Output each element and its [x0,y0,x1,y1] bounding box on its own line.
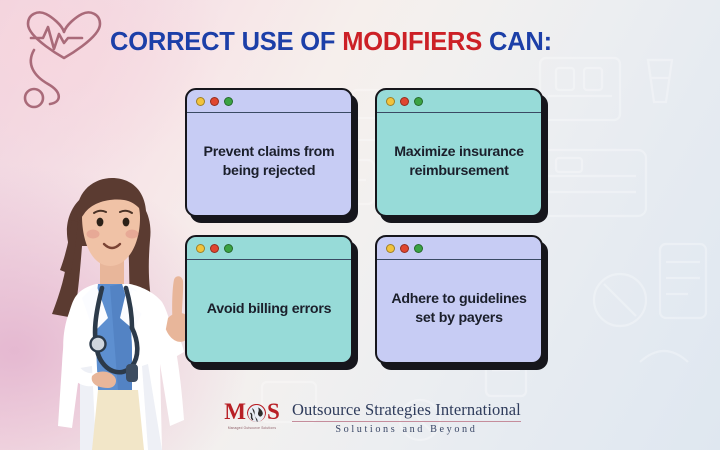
company-tagline: Solutions and Beyond [292,424,521,435]
card-title-bar [377,237,541,260]
card-title-bar [187,237,351,260]
card-body: Adhere to guidelines set by payers [377,260,541,362]
card-body: Prevent claims from being rejected [187,113,351,215]
company-name: Outsource Strategies International [292,400,521,420]
globe-icon [247,403,266,422]
benefit-card-grid: Prevent claims from being rejected Maxim… [185,88,550,378]
card-body: Avoid billing errors [187,260,351,362]
window-maximize-dot-icon[interactable] [414,244,423,253]
infographic-canvas: CORRECT USE OF MODIFIERS CAN: [0,0,720,450]
logo-letters: M S [216,398,288,425]
benefit-card-1[interactable]: Prevent claims from being rejected [185,88,353,217]
logo-letter-s: S [267,399,280,425]
benefit-card-4[interactable]: Adhere to guidelines set by payers [375,235,543,364]
benefit-card-2[interactable]: Maximize insurance reimbursement [375,88,543,217]
company-logo[interactable]: M S Managed Outsource Solutions Outsourc… [216,393,546,441]
logo-letter-m: M [224,399,246,425]
card-text: Adhere to guidelines set by payers [385,290,533,327]
page-title: CORRECT USE OF MODIFIERS CAN: [110,28,552,57]
card-title-bar [187,90,351,113]
window-close-dot-icon[interactable] [400,244,409,253]
window-close-dot-icon[interactable] [210,244,219,253]
heartbeat-heart-icon [4,2,122,110]
window-minimize-dot-icon[interactable] [386,244,395,253]
card-text: Maximize insurance reimbursement [385,143,533,180]
title-part-1: CORRECT USE OF [110,28,342,56]
window-maximize-dot-icon[interactable] [224,244,233,253]
card-title-bar [377,90,541,113]
logo-divider [292,421,521,422]
card-body: Maximize insurance reimbursement [377,113,541,215]
benefit-card-3[interactable]: Avoid billing errors [185,235,353,364]
female-doctor-illustration [36,168,206,450]
logo-wordmark: Outsource Strategies International Solut… [292,400,521,435]
window-close-dot-icon[interactable] [400,97,409,106]
logo-mark: M S Managed Outsource Solutions [216,395,288,439]
window-minimize-dot-icon[interactable] [196,244,205,253]
title-highlight: MODIFIERS [342,28,482,56]
window-minimize-dot-icon[interactable] [196,97,205,106]
card-text: Prevent claims from being rejected [195,143,343,180]
window-close-dot-icon[interactable] [210,97,219,106]
window-maximize-dot-icon[interactable] [224,97,233,106]
window-maximize-dot-icon[interactable] [414,97,423,106]
card-text: Avoid billing errors [207,300,332,319]
title-part-2: CAN: [482,28,552,56]
window-minimize-dot-icon[interactable] [386,97,395,106]
logo-subtext: Managed Outsource Solutions [216,426,288,430]
